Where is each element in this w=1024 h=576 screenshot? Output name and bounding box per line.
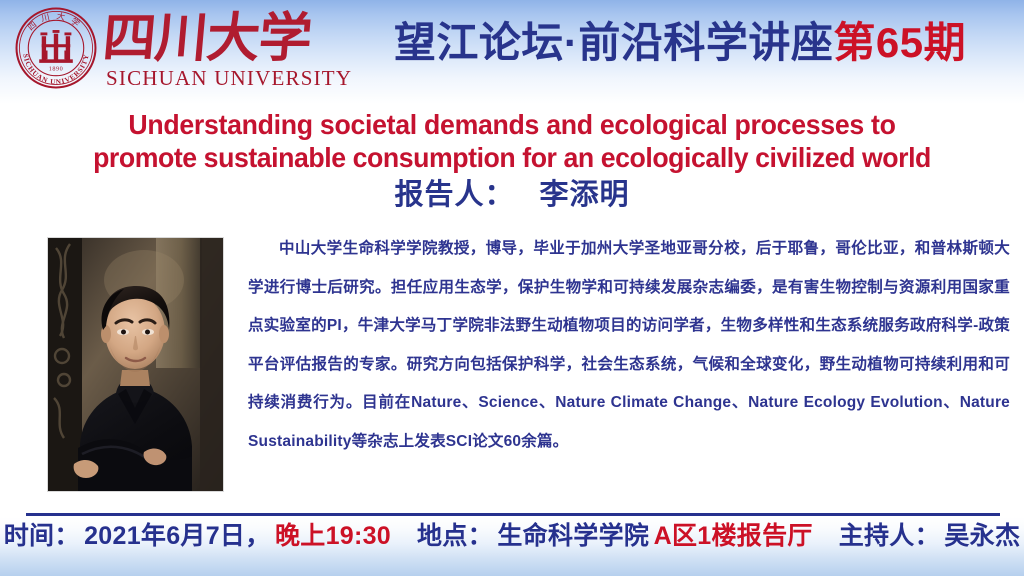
speaker-name: 李添明 bbox=[540, 179, 630, 211]
speaker-portrait bbox=[48, 238, 223, 491]
footer-time: 时间： 2021年6月7日， 晚上19:30 bbox=[4, 521, 391, 551]
footer-divider bbox=[26, 513, 1000, 516]
footer-host: 主持人： 吴永杰 bbox=[839, 521, 1021, 551]
university-wordmark-en: SICHUAN UNIVERSITY bbox=[106, 68, 328, 89]
lecture-title-line1: Understanding societal demands and ecolo… bbox=[15, 108, 1008, 141]
footer-time-label: 时间： bbox=[4, 522, 80, 550]
footer-time-date: 2021年6月7日， bbox=[84, 522, 270, 550]
speaker-label: 报告人： bbox=[394, 179, 514, 211]
lecture-title-line2: promote sustainable consumption for an e… bbox=[15, 141, 1008, 174]
speaker-bio: 中山大学生命科学学院教授，博导，毕业于加州大学圣地亚哥分校，后于耶鲁，哥伦比亚，… bbox=[248, 230, 1010, 461]
footer-venue-name: 生命科学学院 bbox=[497, 522, 649, 550]
speaker-line: 报告人： 李添明 bbox=[0, 178, 1024, 212]
poster-footer: 时间： 2021年6月7日， 晚上19:30 地点： 生命科学学院 A区1楼报告… bbox=[0, 517, 1024, 576]
footer-host-label: 主持人： bbox=[839, 522, 940, 550]
svg-text:四川大学: 四川大学 bbox=[104, 6, 314, 69]
footer-time-clock: 晚上19:30 bbox=[275, 522, 391, 550]
footer-venue-room: A区1楼报告厅 bbox=[654, 522, 813, 550]
poster-header: SICHUAN UNIVERSITY 四川大学 bbox=[0, 0, 1024, 104]
footer-venue: 地点： 生命科学学院 A区1楼报告厅 bbox=[417, 521, 813, 551]
lecture-title: Understanding societal demands and ecolo… bbox=[15, 108, 1008, 174]
university-logo-block: SICHUAN UNIVERSITY 四川大学 bbox=[8, 2, 328, 102]
footer-venue-label: 地点： bbox=[417, 522, 493, 550]
header-title-series: 望江论坛·前沿科学讲座 bbox=[394, 22, 834, 64]
speaker-bio-text: 中山大学生命科学学院教授，博导，毕业于加州大学圣地亚哥分校，后于耶鲁，哥伦比亚，… bbox=[248, 230, 1010, 461]
svg-text:1890: 1890 bbox=[49, 66, 63, 73]
header-title: 望江论坛·前沿科学讲座 第65期 bbox=[352, 14, 1008, 72]
footer-host-name: 吴永杰 bbox=[944, 522, 1020, 550]
sichuan-university-seal-icon: SICHUAN UNIVERSITY 四川大学 bbox=[14, 6, 98, 90]
university-wordmark-cn: 四川大学 bbox=[104, 4, 328, 70]
header-title-issue: 第65期 bbox=[833, 22, 966, 64]
lecture-poster: SICHUAN UNIVERSITY 四川大学 bbox=[0, 0, 1024, 576]
